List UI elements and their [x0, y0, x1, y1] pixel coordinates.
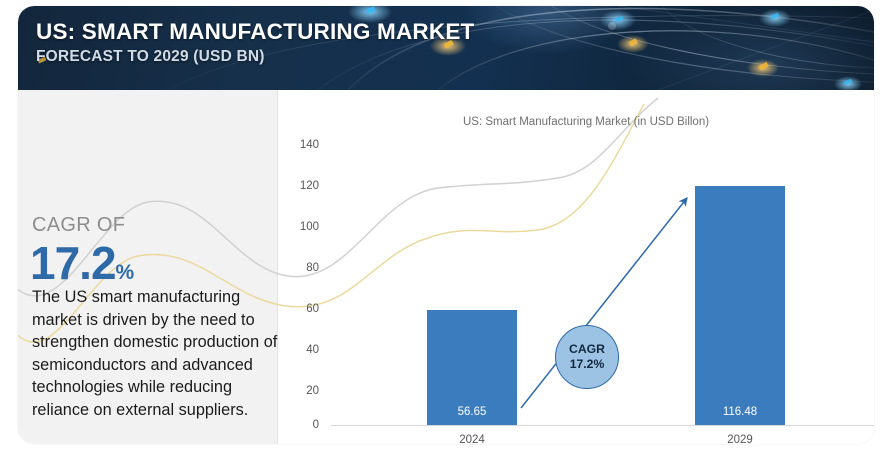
cagr-callout-bubble[interactable]: CAGR 17.2%	[555, 325, 619, 389]
growth-arrow-icon	[277, 90, 874, 444]
page-title: US: SMART MANUFACTURING MARKET	[36, 19, 474, 45]
page-subtitle: FORECAST TO 2029 (USD BN)	[36, 47, 474, 67]
market-description: The US smart manufacturing market is dri…	[32, 286, 280, 422]
infographic-frame: US: SMART MANUFACTURING MARKET FORECAST …	[0, 0, 885, 450]
cagr-percent-sign: %	[116, 261, 135, 284]
header-banner: US: SMART MANUFACTURING MARKET FORECAST …	[18, 6, 874, 90]
cagr-label: CAGR OF	[32, 214, 125, 237]
cagr-callout-line1: CAGR	[569, 342, 605, 357]
bar-chart: US: Smart Manufacturing Market (in USD B…	[277, 90, 874, 444]
cagr-number: 17.2	[30, 237, 116, 289]
infographic-card: US: SMART MANUFACTURING MARKET FORECAST …	[18, 6, 874, 444]
cagr-callout-line2: 17.2%	[570, 357, 605, 372]
header-text-block: US: SMART MANUFACTURING MARKET FORECAST …	[36, 19, 474, 67]
content-area: CAGR OF 17.2% The US smart manufacturing…	[18, 90, 874, 444]
